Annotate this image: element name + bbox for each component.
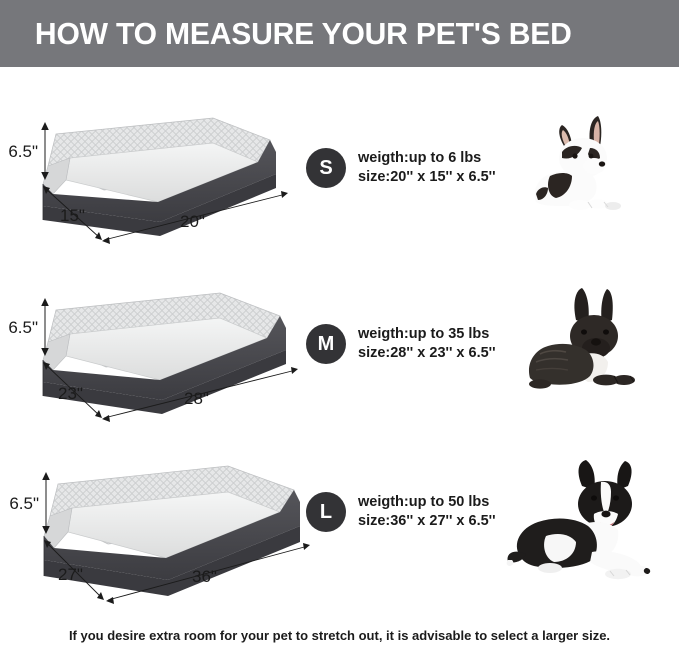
dimension-height-medium: 6.5" [8, 318, 38, 337]
bed-svg-medium: 6.5" 23" 28" [8, 272, 318, 422]
weight-line-small: weigth:up to 6 lbs [358, 149, 496, 168]
dog-photo-medium [524, 280, 674, 405]
size-badge-medium: M [306, 324, 346, 364]
dimension-depth-small: 15" [60, 206, 85, 225]
size-badge-large: L [306, 492, 346, 532]
size-row-small: 6.5" 15" 20" S weigth:up to 6 lbs size:2… [0, 96, 679, 246]
dimension-depth-medium: 23" [58, 384, 83, 403]
dimension-height-large: 6.5" [9, 494, 39, 513]
spec-block-small: S weigth:up to 6 lbs size:20'' x 15'' x … [306, 148, 496, 188]
spec-text-medium: weigth:up to 35 lbs size:28'' x 23'' x 6… [358, 325, 496, 363]
spec-block-medium: M weigth:up to 35 lbs size:28'' x 23'' x… [306, 324, 496, 364]
dimension-width-large: 36" [192, 567, 217, 586]
bed-illustration-medium: 6.5" 23" 28" [8, 272, 318, 422]
dog-photo-small [528, 106, 673, 226]
dimension-width-small: 20" [180, 212, 205, 231]
page-title: HOW TO MEASURE YOUR PET'S BED [0, 16, 572, 52]
size-badge-small: S [306, 148, 346, 188]
dog-svg-chihuahua [528, 106, 673, 226]
size-line-small: size:20'' x 15'' x 6.5'' [358, 168, 496, 187]
bed-svg-large: 6.5" 27" 36" [6, 448, 331, 608]
dog-svg-border-collie [506, 452, 678, 592]
spec-block-large: L weigth:up to 50 lbs size:36'' x 27'' x… [306, 492, 496, 532]
spec-text-large: weigth:up to 50 lbs size:36'' x 27'' x 6… [358, 493, 496, 531]
header-banner: HOW TO MEASURE YOUR PET'S BED [0, 0, 679, 67]
footer-note: If you desire extra room for your pet to… [0, 628, 679, 643]
bed-illustration-large: 6.5" 27" 36" [6, 448, 331, 608]
dimension-depth-large: 27" [58, 565, 83, 584]
size-line-medium: size:28'' x 23'' x 6.5'' [358, 344, 496, 363]
dog-photo-large [506, 452, 678, 592]
dimension-height-small: 6.5" [8, 142, 38, 161]
weight-line-large: weigth:up to 50 lbs [358, 493, 496, 512]
bed-svg-small: 6.5" 15" 20" [8, 96, 308, 246]
size-line-large: size:36'' x 27'' x 6.5'' [358, 512, 496, 531]
bed-illustration-small: 6.5" 15" 20" [8, 96, 308, 246]
size-row-medium: 6.5" 23" 28" M weigth:up to 35 lbs size:… [0, 272, 679, 422]
size-row-large: 6.5" 27" 36" L weigth:up to 50 lbs size:… [0, 448, 679, 608]
dimension-width-medium: 28" [184, 389, 209, 408]
dog-svg-french-bulldog [524, 280, 674, 405]
spec-text-small: weigth:up to 6 lbs size:20'' x 15'' x 6.… [358, 149, 496, 187]
weight-line-medium: weigth:up to 35 lbs [358, 325, 496, 344]
